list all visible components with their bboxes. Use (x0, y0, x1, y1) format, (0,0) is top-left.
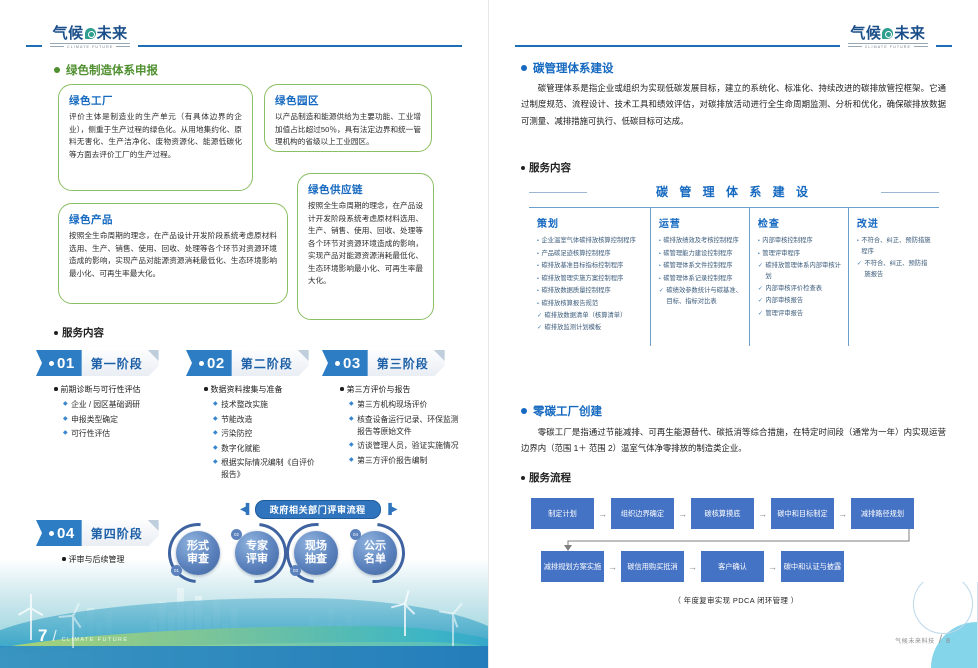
review-circle-01: 01 形式 审查 (172, 527, 224, 579)
stage-item-text: 访谈管理人员，验证实施情况 (357, 440, 458, 452)
stage-item-text: 第三方评价报告编制 (357, 455, 427, 467)
stage-card-01: 01 第一阶段 前期诊断与可行性评估 ◆企业 / 园区基础调研 ◆申报类型确定 … (36, 350, 176, 443)
circle-line1: 形式 (187, 540, 209, 553)
check-icon: ✓ (758, 296, 763, 307)
card-body: 以产品制造和能源供给为主要功能、工业增加值占比超过50％，具有法定边界和统一管理… (275, 111, 421, 149)
stage-name: 第一阶段 (82, 350, 159, 376)
card-body: 按照全生命周期的理念，在产品设计开发阶段系统考虑原材料选用、生产、销售、使用、回… (69, 230, 277, 280)
subheading-text: 服务内容 (529, 160, 571, 175)
check-icon: ✓ (537, 323, 542, 334)
review-circle-03: 03 现场 抽查 (290, 527, 342, 579)
stage-lead: 评审与后续管理 (62, 554, 176, 565)
flow-box: 组织边界确定 (611, 498, 674, 529)
table-item: ✓碳绩效参数统计与碳基准、目标、指标对比表 (659, 286, 743, 307)
stage-name: 第四阶段 (82, 520, 159, 546)
carbon-management-table: 碳 管 理 体 系 建 设 策划 •企业温室气体碳排放核算控制程序 •产品碳足迹… (529, 183, 939, 346)
stage-lead-text: 评审与后续管理 (69, 554, 125, 565)
diamond-icon: ◆ (63, 399, 68, 410)
check-icon: ✓ (758, 284, 763, 295)
table-item: ✓不符合、纠正、预防措施报告 (857, 259, 933, 280)
wind-turbine-icon (440, 600, 466, 646)
circle-line2: 名单 (364, 553, 386, 566)
brand-logo-mark: 气候未来 (850, 26, 925, 41)
stage-name: 第二阶段 (232, 350, 309, 376)
stage-item: ◆第三方评价报告编制 (349, 455, 460, 467)
subheading-service-content-right: 服务内容 (521, 160, 571, 175)
circle-badge: 01 (171, 565, 182, 576)
stage-lead: 第三方评价与报告 (340, 384, 460, 395)
card-green-factory: 绿色工厂 评价主体是制造业的生产单元（有具体边界的企业），侧重于生产过程的绿色化… (58, 84, 253, 191)
stage-item: ◆申报类型确定 (63, 414, 176, 426)
card-body: 评价主体是制造业的生产单元（有具体边界的企业），侧重于生产过程的绿色化。从用地集… (69, 111, 242, 161)
stage-lead: 数据资料搜集与准备 (204, 384, 321, 395)
circle-body: 专家 评审 (235, 531, 279, 575)
dot-icon: • (537, 249, 539, 260)
dot-icon: • (659, 261, 661, 272)
diamond-icon: ◆ (63, 428, 68, 439)
circle-line1: 公示 (364, 540, 386, 553)
table-item-text: 不符合、纠正、预防措施报告 (864, 259, 933, 280)
bullet-icon (54, 331, 58, 335)
dot-icon: • (537, 261, 539, 272)
flow-box: 碳信用购买抵消 (621, 551, 684, 582)
arrow-right-icon: → (684, 562, 701, 572)
diamond-icon: ◆ (213, 457, 218, 468)
table-item: •管理评审程序 (758, 249, 842, 260)
diamond-icon: ◆ (349, 440, 354, 451)
stage-item: ◆技术整改实施 (213, 399, 321, 411)
leaf-bubble-icon (85, 28, 96, 39)
corner-decoration (892, 582, 978, 668)
table-column-check: 检查 •内部审核控制程序 •管理评审程序 ✓碳排放管理体系内部审核计划 ✓内部审… (749, 208, 848, 346)
stage-bullet-icon (335, 361, 340, 366)
diamond-icon: ◆ (349, 399, 354, 410)
column-item-list: •不符合、纠正、预防措施程序 ✓不符合、纠正、预防措施报告 (857, 236, 933, 280)
table-title: 碳 管 理 体 系 建 设 (529, 183, 939, 200)
stage-banner: 04 第四阶段 (36, 520, 176, 546)
page-number-left: 7 / CLIMATE FUTURE (38, 626, 129, 646)
dot-icon: • (659, 249, 661, 260)
flow-box: 制定计划 (531, 498, 594, 529)
stage-item-text: 数字化赋能 (221, 443, 260, 455)
wind-turbine-icon (392, 590, 418, 636)
stage-card-02: 02 第二阶段 数据资料搜集与准备 ◆技术整改实施 ◆节能改造 ◆污染防控 ◆数… (186, 350, 321, 484)
bullet-icon (521, 166, 525, 170)
arrow-right-icon: ▐▶ (385, 504, 396, 515)
flow-box: 碳中和认证与披露 (781, 551, 844, 582)
table-item-text: 碳排放基准目标指标控制程序 (541, 261, 623, 272)
flow-row-2: 减排规划方案实施 → 碳信用购买抵消 → 客户确认 → 碳中和认证与披露 (531, 551, 941, 582)
stage-item-text: 申报类型确定 (71, 414, 118, 426)
table-item-text: 碳排放数据质量控制程序 (541, 286, 610, 297)
card-body: 按照全生命周期的理念，在产品设计开发阶段系统考虑原材料选用、生产、销售、使用、回… (308, 200, 423, 288)
table-item-text: 碳排放数据清单（核算清单） (545, 311, 627, 322)
table-item: •碳管理体系文件控制程序 (659, 261, 743, 272)
table-item: •不符合、纠正、预防措施程序 (857, 236, 933, 257)
right-page: 气候未来 CLIMATE FUTURE 碳管理体系建设 碳管理体系是指企业或组织… (489, 0, 978, 668)
brand-name-part2: 未来 (97, 26, 128, 41)
table-item: ✓碳排放管理体系内部审核计划 (758, 261, 842, 282)
stage-item-text: 节能改造 (221, 414, 252, 426)
diamond-icon: ◆ (213, 428, 218, 439)
stage-number: 04 (36, 520, 82, 546)
stage-item-text: 核查设备运行记录、环保监测报告等原始文件 (357, 414, 460, 438)
stage-body: 数据资料搜集与准备 ◆技术整改实施 ◆节能改造 ◆污染防控 ◆数字化赋能 ◆根据… (186, 376, 321, 481)
stage-number: 03 (322, 350, 368, 376)
dot-icon: • (857, 236, 859, 247)
stage-item-text: 企业 / 园区基础调研 (71, 399, 140, 411)
dot-icon: • (758, 249, 760, 260)
stage-lead: 前期诊断与可行性评估 (54, 384, 176, 395)
footer-brand-en: CLIMATE FUTURE (62, 637, 129, 643)
stage-item-text: 根据实际情况编制《自评价报告》 (221, 457, 321, 481)
card-green-supply-chain: 绿色供应链 按照全生命周期的理念，在产品设计开发阶段系统考虑原材料选用、生产、销… (297, 173, 434, 320)
subheading-text: 服务流程 (529, 470, 571, 485)
stage-banner: 02 第二阶段 (186, 350, 321, 376)
diamond-icon: ◆ (349, 414, 354, 425)
check-icon: ✓ (857, 259, 862, 270)
table-item: •碳管理能力建设控制程序 (659, 249, 743, 260)
stage-number-text: 02 (207, 355, 225, 372)
circle-line1: 现场 (305, 540, 327, 553)
review-circle-04: 04 公示 名单 (349, 527, 401, 579)
table-item: ✓碳排放数据清单（核算清单） (537, 311, 644, 322)
dot-icon: • (537, 236, 539, 247)
flow-connector (531, 529, 941, 551)
table-item-text: 管理评审程序 (762, 249, 800, 260)
table-item-text: 碳排放绩效及考核控制程序 (663, 236, 739, 247)
section-title-text: 碳管理体系建设 (533, 60, 614, 76)
brand-name-part1: 气候 (850, 26, 881, 41)
stage-item: ◆污染防控 (213, 428, 321, 440)
card-title: 绿色工厂 (69, 93, 242, 108)
table-column-operate: 运营 •碳排放绩效及考核控制程序 •碳管理能力建设控制程序 •碳管理体系文件控制… (650, 208, 749, 346)
table-item-text: 碳排放管理实施方案控制程序 (541, 274, 623, 285)
circle-line1: 专家 (246, 540, 268, 553)
table-item: •碳管理体系记录控制程序 (659, 274, 743, 285)
stage-item-list: ◆第三方机构现场评价 ◆核查设备运行记录、环保监测报告等原始文件 ◆访谈管理人员… (340, 399, 460, 467)
table-title-text: 碳 管 理 体 系 建 设 (656, 185, 812, 199)
stage-number-text: 03 (343, 355, 361, 372)
table-column-plan: 策划 •企业温室气体碳排放核算控制程序 •产品碳足迹核算控制程序 •碳排放基准目… (529, 208, 650, 346)
left-page-header: 气候未来 CLIMATE FUTURE (26, 30, 462, 52)
bullet-icon (204, 387, 208, 391)
stage-body: 评审与后续管理 (36, 546, 176, 565)
column-header: 检查 (758, 215, 842, 230)
card-green-park: 绿色园区 以产品制造和能源供给为主要功能、工业增加值占比超过50％，具有法定边界… (264, 84, 432, 152)
flow-row-1: 制定计划 → 组织边界确定 → 碳核算摸底 → 碳中和目标制定 → 减排路径规划 (531, 498, 941, 529)
leaf-bubble-icon (882, 28, 893, 39)
footer-brand-cn: 气候未来科技 (895, 636, 935, 645)
table-item: •内部审核控制程序 (758, 236, 842, 247)
table-grid: 策划 •企业温室气体碳排放核算控制程序 •产品碳足迹核算控制程序 •碳排放基准目… (529, 207, 939, 346)
diamond-icon: ◆ (63, 414, 68, 425)
brand-logo-left: 气候未来 CLIMATE FUTURE (42, 26, 138, 49)
stage-lead-text: 前期诊断与可行性评估 (61, 384, 141, 395)
circle-body: 形式 审查 (176, 531, 220, 575)
table-item-text: 碳管理体系记录控制程序 (663, 274, 732, 285)
column-header: 策划 (537, 215, 644, 230)
stage-number: 01 (36, 350, 82, 376)
dot-icon: • (537, 299, 539, 310)
stage-item: ◆节能改造 (213, 414, 321, 426)
card-title: 绿色产品 (69, 212, 277, 227)
page-number-value: 7 (38, 626, 47, 646)
arrow-left-icon: ◀▌ (240, 504, 251, 515)
check-icon: ✓ (758, 261, 763, 272)
service-process-flow: 制定计划 → 组织边界确定 → 碳核算摸底 → 碳中和目标制定 → 减排路径规划… (531, 498, 941, 606)
rule-left (529, 192, 587, 193)
bullet-icon (521, 476, 525, 480)
stage-lead-text: 数据资料搜集与准备 (211, 384, 283, 395)
table-item: •碳排放核算报告规范 (537, 299, 644, 310)
table-item: •碳排放绩效及考核控制程序 (659, 236, 743, 247)
table-item-text: 碳绩效参数统计与碳基准、目标、指标对比表 (666, 286, 743, 307)
left-page: 气候未来 CLIMATE FUTURE 绿色制造体系申报 绿色工厂 评价主体是制… (0, 0, 489, 668)
section-title-carbon-management: 碳管理体系建设 (521, 60, 614, 76)
arrow-right-icon: → (754, 509, 771, 519)
table-item-text: 管理评审报告 (765, 309, 803, 320)
stage-bullet-icon (199, 361, 204, 366)
bullet-icon (54, 387, 58, 391)
brand-tagline: CLIMATE FUTURE (848, 43, 928, 49)
table-item: ✓内部审核报告 (758, 296, 842, 307)
stage-item: ◆根据实际情况编制《自评价报告》 (213, 457, 321, 481)
brand-name-part2: 未来 (894, 26, 925, 41)
flow-box: 减排规划方案实施 (541, 551, 604, 582)
circle-line2: 审查 (187, 553, 209, 566)
circle-badge: 02 (231, 529, 242, 540)
flow-box: 客户确认 (701, 551, 764, 582)
stage-lead-text: 第三方评价与报告 (347, 384, 411, 395)
arrow-right-icon: → (594, 509, 611, 519)
stage-body: 前期诊断与可行性评估 ◆企业 / 园区基础调研 ◆申报类型确定 ◆可行性评估 (36, 376, 176, 440)
column-item-list: •内部审核控制程序 •管理评审程序 ✓碳排放管理体系内部审核计划 ✓内部审核评价… (758, 236, 842, 319)
table-item-text: 内部审核评价检查表 (765, 284, 822, 295)
table-item-text: 内部审核报告 (765, 296, 803, 307)
dot-icon: • (537, 286, 539, 297)
circle-line2: 抽查 (305, 553, 327, 566)
dot-icon: • (537, 274, 539, 285)
dot-icon: • (659, 236, 661, 247)
bullet-icon (62, 557, 66, 561)
stage-card-03: 03 第三阶段 第三方评价与报告 ◆第三方机构现场评价 ◆核查设备运行记录、环保… (322, 350, 460, 469)
table-item: ✓碳排放监测计划模板 (537, 323, 644, 334)
flow-note: （ 年度复审实现 PDCA 闭环管理 ） (531, 595, 941, 606)
check-icon: ✓ (659, 286, 664, 297)
page-number-right: 气候未来科技 / 8 (895, 632, 950, 646)
stage-item: ◆访谈管理人员，验证实施情况 (349, 440, 460, 452)
section-title-text: 零碳工厂创建 (533, 403, 602, 419)
stage-bullet-icon (49, 361, 54, 366)
check-icon: ✓ (758, 309, 763, 320)
stage-item-list: ◆技术整改实施 ◆节能改造 ◆污染防控 ◆数字化赋能 ◆根据实际情况编制《自评价… (204, 399, 321, 481)
slash-icon: / (52, 628, 56, 645)
page-number-value: 8 (946, 638, 950, 645)
table-item-text: 碳管理体系文件控制程序 (663, 261, 732, 272)
stage-item: ◆可行性评估 (63, 428, 176, 440)
stage-item-text: 可行性评估 (71, 428, 110, 440)
flow-box: 碳核算摸底 (691, 498, 754, 529)
brand-logo-right: 气候未来 CLIMATE FUTURE (840, 26, 936, 49)
circle-badge: 04 (350, 529, 361, 540)
table-item-text: 不符合、纠正、预防措施程序 (861, 236, 933, 257)
bullet-icon (521, 408, 527, 414)
bullet-icon (521, 65, 527, 71)
card-title: 绿色园区 (275, 93, 421, 108)
arrow-right-icon: → (674, 509, 691, 519)
table-item: •碳排放数据质量控制程序 (537, 286, 644, 297)
stage-item: ◆企业 / 园区基础调研 (63, 399, 176, 411)
stage-item-text: 技术整改实施 (221, 399, 268, 411)
diamond-icon: ◆ (213, 414, 218, 425)
review-circle-group: 01 形式 审查 02 专家 评审 03 现场 抽查 04 (172, 527, 401, 579)
stage-name: 第三阶段 (368, 350, 445, 376)
dot-icon: • (758, 236, 760, 247)
subheading-service-process: 服务流程 (521, 470, 571, 485)
brand-name-part1: 气候 (53, 26, 84, 41)
stage-banner: 01 第一阶段 (36, 350, 176, 376)
table-item-text: 碳排放监测计划模板 (545, 323, 602, 334)
stage-card-04: 04 第四阶段 评审与后续管理 (36, 520, 176, 569)
stage-bullet-icon (49, 531, 54, 536)
column-header: 改进 (857, 215, 933, 230)
carbon-management-paragraph: 碳管理体系是指企业或组织为实现低碳发展目标，建立的系统化、标准化、持续改进的碳排… (521, 80, 946, 129)
stage-body: 第三方评价与报告 ◆第三方机构现场评价 ◆核查设备运行记录、环保监测报告等原始文… (322, 376, 460, 467)
subheading-text: 服务内容 (62, 325, 104, 340)
stage-number-text: 04 (57, 525, 75, 542)
flow-box: 碳中和目标制定 (771, 498, 834, 529)
brand-tagline: CLIMATE FUTURE (50, 43, 130, 49)
table-column-improve: 改进 •不符合、纠正、预防措施程序 ✓不符合、纠正、预防措施报告 (848, 208, 939, 346)
table-item-text: 企业温室气体碳排放核算控制程序 (541, 236, 635, 247)
stage-item: ◆数字化赋能 (213, 443, 321, 455)
zero-carbon-paragraph: 零碳工厂是指通过节能减排、可再生能源替代、碳抵消等综合措施，在特定时间段（通常为… (521, 424, 946, 457)
table-item: •碳排放管理实施方案控制程序 (537, 274, 644, 285)
arrow-right-icon: → (604, 562, 621, 572)
dot-icon: • (659, 274, 661, 285)
section-title-text: 绿色制造体系申报 (66, 62, 158, 78)
stage-number: 02 (186, 350, 232, 376)
check-icon: ✓ (537, 311, 542, 322)
column-item-list: •碳排放绩效及考核控制程序 •碳管理能力建设控制程序 •碳管理体系文件控制程序 … (659, 236, 743, 307)
bullet-icon (54, 67, 60, 73)
table-item-text: 碳排放管理体系内部审核计划 (765, 261, 842, 282)
table-item: •产品碳足迹核算控制程序 (537, 249, 644, 260)
diamond-icon: ◆ (213, 399, 218, 410)
flow-box: 减排路径规划 (851, 498, 914, 529)
column-item-list: •企业温室气体碳排放核算控制程序 •产品碳足迹核算控制程序 •碳排放基准目标指标… (537, 236, 644, 334)
section-title-green-manufacturing: 绿色制造体系申报 (54, 62, 158, 78)
table-item-text: 内部审核控制程序 (762, 236, 812, 247)
stage-number-text: 01 (57, 355, 75, 372)
brand-logo-mark: 气候未来 (53, 26, 128, 41)
table-item-text: 碳管理能力建设控制程序 (663, 249, 732, 260)
diamond-icon: ◆ (349, 455, 354, 466)
table-item: •企业温室气体碳排放核算控制程序 (537, 236, 644, 247)
stage-item-list: ◆企业 / 园区基础调研 ◆申报类型确定 ◆可行性评估 (54, 399, 176, 440)
slash-icon: / (939, 632, 942, 646)
gov-review-flow-label: 政府相关部门评审流程 (255, 500, 381, 519)
stage-item-text: 污染防控 (221, 428, 252, 440)
right-page-header: 气候未来 CLIMATE FUTURE (515, 30, 952, 52)
gov-review-flow-banner: ◀▌ 政府相关部门评审流程 ▐▶ (240, 500, 396, 519)
table-item-text: 碳排放核算报告规范 (541, 299, 598, 310)
stage-item: ◆核查设备运行记录、环保监测报告等原始文件 (349, 414, 460, 438)
card-green-product: 绿色产品 按照全生命周期的理念，在产品设计开发阶段系统考虑原材料选用、生产、销售… (58, 203, 288, 304)
column-header: 运营 (659, 215, 743, 230)
review-circle-02: 02 专家 评审 (231, 527, 283, 579)
circle-line2: 评审 (246, 553, 268, 566)
section-title-zero-carbon-factory: 零碳工厂创建 (521, 403, 602, 419)
table-item: ✓内部审核评价检查表 (758, 284, 842, 295)
wave-band-3 (0, 646, 488, 668)
table-item-text: 产品碳足迹核算控制程序 (541, 249, 610, 260)
circle-badge: 03 (290, 565, 301, 576)
arrow-right-icon: → (834, 509, 851, 519)
card-title: 绿色供应链 (308, 182, 423, 197)
stage-item-text: 第三方机构现场评价 (357, 399, 427, 411)
diamond-icon: ◆ (213, 443, 218, 454)
stage-item: ◆第三方机构现场评价 (349, 399, 460, 411)
stage-banner: 03 第三阶段 (322, 350, 460, 376)
table-item: ✓管理评审报告 (758, 309, 842, 320)
bullet-icon (340, 387, 344, 391)
subheading-service-content-left: 服务内容 (54, 325, 104, 340)
table-item: •碳排放基准目标指标控制程序 (537, 261, 644, 272)
rule-right (881, 192, 939, 193)
arrow-right-icon: → (764, 562, 781, 572)
